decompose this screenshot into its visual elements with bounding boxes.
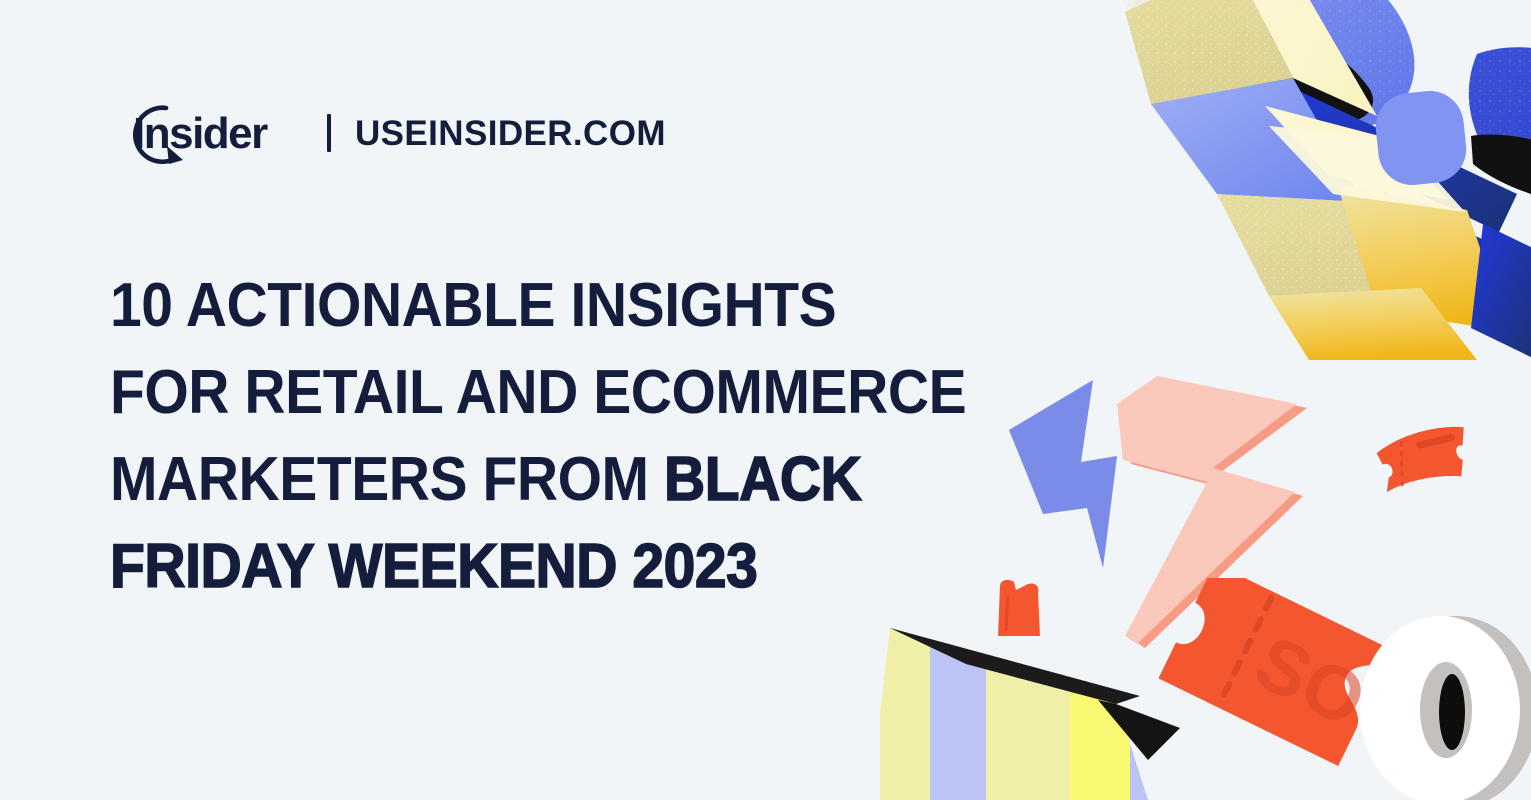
headline-line-3-emphasis: BLACK: [664, 445, 861, 514]
gift-box-side-blue: [1151, 78, 1363, 202]
gift-box-face-gold-lower: [1269, 288, 1477, 360]
insider-logo-mark: Insider: [109, 98, 305, 168]
lightning-bolt-pink-icon: [1117, 376, 1307, 648]
headline-line-1: 10 ACTIONABLE INSIGHTS: [110, 262, 938, 349]
insider-wordmark: Insider: [133, 109, 268, 158]
headline-line-3-normal: MARKETERS FROM: [110, 445, 664, 514]
gift-box-top-cream: [1233, 0, 1449, 200]
headline-line-2: FOR RETAIL AND ECOMMERCE: [110, 349, 938, 436]
shopping-bag-opening: [890, 628, 1180, 760]
sale-ticket-text: SO: [1242, 619, 1378, 744]
gift-box-face-gold: [1337, 184, 1509, 332]
gift-box-illustration: [1047, 0, 1531, 360]
shopping-bag-illustration: [880, 578, 1240, 800]
gift-bow-knot: [1372, 88, 1469, 189]
gift-box-highlight: [1269, 126, 1465, 212]
lightning-bolt-blue-icon: [1009, 380, 1117, 568]
gift-box-face-mid: [1217, 194, 1421, 296]
gift-ribbon-band: [1273, 88, 1517, 304]
page-title: 10 ACTIONABLE INSIGHTS FOR RETAIL AND EC…: [110, 262, 1010, 610]
headline-line-4: FRIDAY WEEKEND 2023: [110, 523, 938, 610]
sale-ticket-large-icon: SO: [1135, 578, 1395, 800]
brand-logo[interactable]: Insider USEINSIDER.COM: [109, 98, 666, 168]
coupon-ticket-small-icon: [1368, 418, 1478, 498]
gift-bow-loop-left: [1197, 0, 1415, 133]
headline-line-3: MARKETERS FROM BLACK: [110, 436, 938, 523]
numeral-zero-graphic: [1352, 612, 1531, 800]
shopping-bag-body: [880, 618, 1180, 800]
brand-url: USEINSIDER.COM: [355, 116, 666, 151]
gift-ribbon-tail: [1471, 224, 1531, 360]
gift-box-face-left: [1125, 0, 1293, 104]
logo-divider: [327, 114, 331, 152]
lightning-bolts-group: [985, 368, 1335, 668]
gift-bow-loop-right: [1469, 47, 1531, 210]
poster-canvas: SO Insider USEINSIDER.COM: [0, 0, 1531, 800]
gift-lid-pale: [1125, 0, 1252, 70]
